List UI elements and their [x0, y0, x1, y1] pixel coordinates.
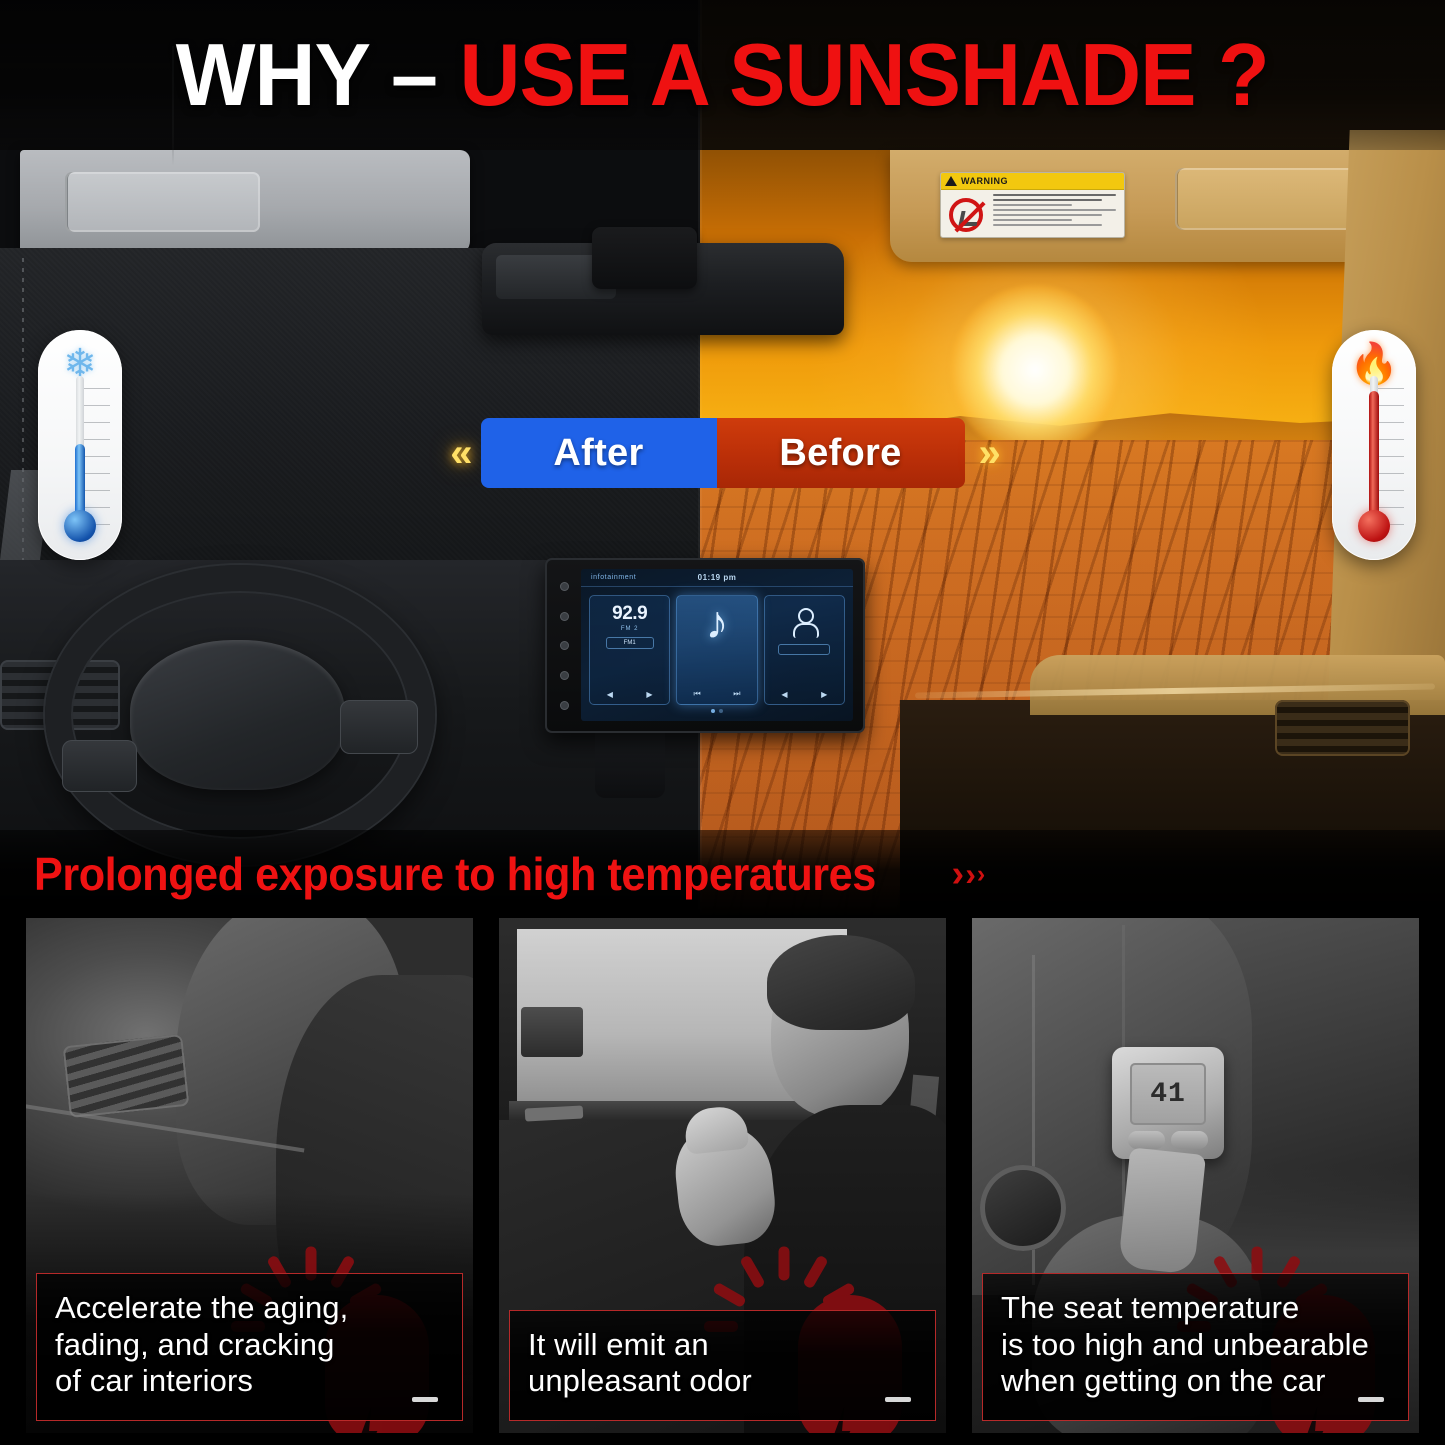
label-line [993, 209, 1116, 211]
profile-controls[interactable]: ◀ ▶ [765, 690, 844, 699]
radio-frequency: 92.9 [612, 604, 647, 623]
side-button[interactable] [560, 701, 569, 710]
side-button[interactable] [560, 582, 569, 591]
title-red-part: USE A SUNSHADE ? [437, 25, 1269, 124]
caption-dash-mark [885, 1397, 911, 1402]
steering-control-right [340, 700, 418, 754]
panel-caption-box: The seat temperature is too high and unb… [982, 1273, 1409, 1421]
panel-unpleasant-odor: It will emit an unpleasant odor [499, 915, 946, 1433]
page-title: WHY – USE A SUNSHADE ? [176, 24, 1269, 126]
person-hair [767, 935, 915, 1030]
profile-prev-icon[interactable]: ◀ [781, 690, 787, 699]
panel-interior-aging: Accelerate the aging, fading, and cracki… [26, 915, 473, 1433]
infotainment-brand: infotainment [591, 574, 636, 581]
steering-wheel-hub [130, 640, 345, 790]
panel-caption-box: Accelerate the aging, fading, and cracki… [36, 1273, 463, 1421]
chevron-icon: › [977, 862, 985, 887]
title-white-part: WHY – [176, 25, 437, 124]
warning-label-header: WARNING [941, 173, 1124, 190]
label-line [993, 214, 1102, 216]
infotainment-unit[interactable]: infotainment 01:19 pm 92.9 FM 2 FM1 ◀ ▶ [545, 558, 865, 733]
thermometer-bulb-cold [64, 510, 96, 542]
warning-triangle-icon [945, 176, 957, 186]
infotainment-cards: 92.9 FM 2 FM1 ◀ ▶ ♪ ⏮ ⏭ [581, 587, 853, 705]
ir-temperature-reading: 41 [1150, 1079, 1186, 1110]
warning-label-body [941, 190, 1124, 238]
ir-thermometer-display: 41 [1130, 1063, 1206, 1125]
panel-hot-seat: 41 The [972, 915, 1419, 1433]
media-next-icon[interactable]: ⏭ [733, 689, 740, 699]
sun-visor-left [20, 150, 470, 255]
chevron-icon: › [965, 858, 976, 890]
infotainment-status-bar: infotainment 01:19 pm [581, 569, 853, 587]
page-indicator-dots [581, 709, 853, 713]
radio-prev-icon[interactable]: ◀ [607, 690, 613, 699]
rear-view-mirror [482, 243, 844, 335]
infotainment-clock: 01:19 pm [698, 573, 737, 582]
side-mirror [521, 1007, 583, 1057]
media-prev-icon[interactable]: ⏮ [694, 689, 701, 699]
before-after-badge-row: « After Before » [0, 414, 1445, 492]
ir-button [1171, 1131, 1208, 1149]
air-vent-right [1275, 700, 1410, 756]
airbag-warning-label: WARNING [940, 172, 1125, 238]
profile-card[interactable]: ◀ ▶ [764, 595, 845, 705]
person-icon [791, 608, 817, 638]
visor-pocket [1175, 168, 1370, 230]
radio-card[interactable]: 92.9 FM 2 FM1 ◀ ▶ [589, 595, 670, 705]
infotainment-screen[interactable]: infotainment 01:19 pm 92.9 FM 2 FM1 ◀ ▶ [581, 569, 853, 721]
chevron-left-icon: « [450, 433, 466, 473]
mid-headline-chevrons: › › › [952, 855, 986, 893]
defrost-vent [63, 1034, 190, 1118]
warning-label-text: WARNING [961, 176, 1008, 186]
ir-button [1128, 1131, 1165, 1149]
consequence-panels: Accelerate the aging, fading, and cracki… [0, 915, 1445, 1445]
sunshade-infographic: WARNING [0, 0, 1445, 1445]
radio-preset[interactable]: FM1 [606, 637, 654, 649]
thermometer-bulb-hot [1358, 510, 1390, 542]
warning-label-textlines [991, 190, 1124, 238]
dot-active [711, 709, 715, 713]
music-note-icon: ♪ [705, 604, 728, 642]
dashcam-module [592, 227, 697, 289]
media-card[interactable]: ♪ ⏮ ⏭ [676, 595, 757, 705]
before-badge: Before [717, 418, 965, 488]
title-bar: WHY – USE A SUNSHADE ? [0, 0, 1445, 150]
infrared-thermometer: 41 [1112, 1047, 1224, 1159]
radio-band: FM 2 [621, 626, 639, 632]
ir-thermometer-grip [1118, 1147, 1206, 1274]
label-line [993, 204, 1072, 206]
child-seat-icon [958, 211, 979, 226]
mid-headline-band: Prolonged exposure to high temperatures … [0, 830, 1445, 918]
caption-dash-mark [1358, 1397, 1384, 1402]
radio-controls[interactable]: ◀ ▶ [590, 690, 669, 699]
prohibition-icon [949, 198, 983, 232]
panel-caption-box: It will emit an unpleasant odor [509, 1310, 936, 1421]
chevron-right-icon: » [979, 433, 995, 473]
side-button[interactable] [560, 612, 569, 621]
infotainment-side-buttons[interactable] [551, 572, 577, 720]
dot-inactive [719, 709, 723, 713]
infotainment-mount [595, 728, 665, 798]
label-line [993, 199, 1102, 201]
label-line [993, 219, 1072, 221]
profile-next-icon[interactable]: ▶ [821, 690, 827, 699]
side-button[interactable] [560, 641, 569, 650]
wristwatch [980, 1165, 1066, 1251]
profile-pill[interactable] [778, 644, 830, 655]
radio-next-icon[interactable]: ▶ [646, 690, 652, 699]
side-button[interactable] [560, 671, 569, 680]
panel-caption-text: It will emit an unpleasant odor [528, 1327, 917, 1400]
panel-caption-text: The seat temperature is too high and unb… [1001, 1290, 1390, 1400]
panel-caption-text: Accelerate the aging, fading, and cracki… [55, 1290, 444, 1400]
media-controls[interactable]: ⏮ ⏭ [677, 689, 756, 699]
mid-headline-text: Prolonged exposure to high temperatures [34, 847, 876, 901]
label-line [993, 194, 1116, 196]
after-badge: After [481, 418, 717, 488]
chevron-icon: › [952, 855, 965, 893]
steering-control-left [62, 740, 137, 792]
no-child-seat-icon-wrap [941, 190, 991, 238]
label-line [993, 224, 1102, 226]
caption-dash-mark [412, 1397, 438, 1402]
